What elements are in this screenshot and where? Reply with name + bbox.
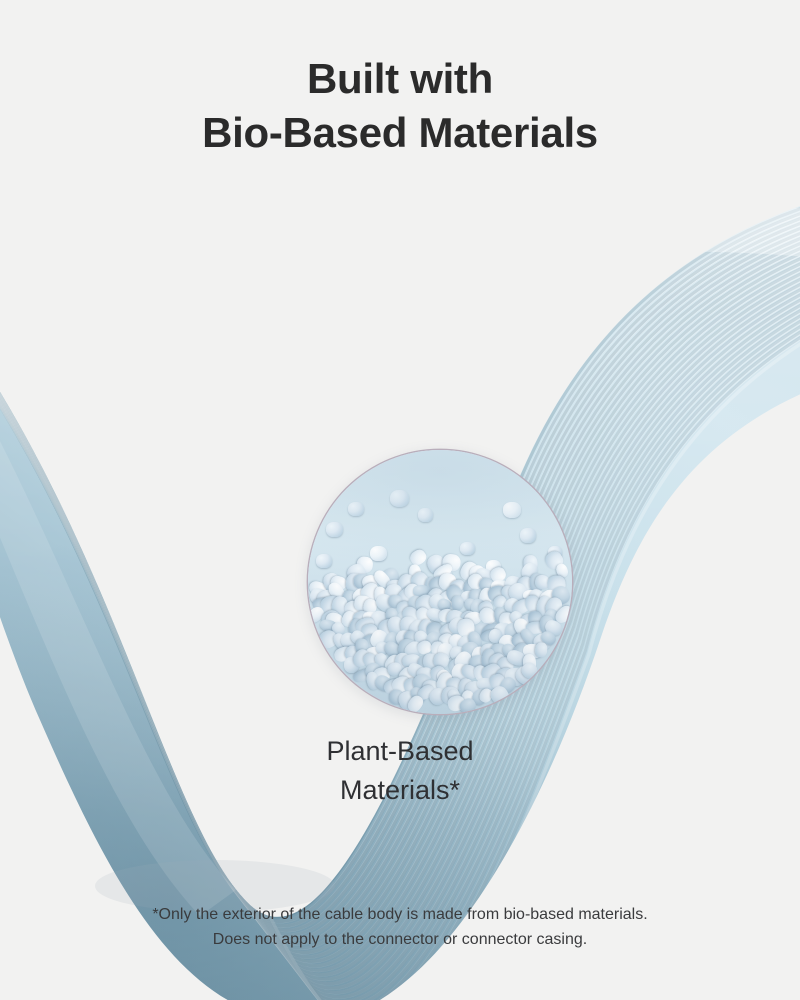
- footnote-disclaimer: *Only the exterior of the cable body is …: [0, 902, 800, 952]
- caption-line-1: Plant-Based: [0, 732, 800, 771]
- footnote-line-1: *Only the exterior of the cable body is …: [0, 902, 800, 927]
- marketing-banner: Built with Bio-Based Materials Plant-Bas…: [0, 0, 800, 1000]
- heading-line-1: Built with: [0, 52, 800, 106]
- resin-pellet: [370, 546, 387, 561]
- resin-pellet: [316, 554, 332, 568]
- resin-pellet: [520, 528, 536, 543]
- page-title: Built with Bio-Based Materials: [0, 52, 800, 160]
- pellet-caption: Plant-Based Materials*: [0, 732, 800, 810]
- resin-pellet: [451, 595, 463, 610]
- caption-line-2: Materials*: [0, 771, 800, 810]
- pellet-bed: [308, 450, 572, 714]
- resin-pellet: [418, 508, 433, 522]
- heading-line-2: Bio-Based Materials: [0, 106, 800, 160]
- footnote-line-2: Does not apply to the connector or conne…: [0, 927, 800, 952]
- plant-based-pellet-closeup: [308, 450, 572, 714]
- resin-pellet: [348, 502, 364, 516]
- resin-pellet: [390, 490, 409, 507]
- resin-pellet: [503, 502, 521, 518]
- resin-pellet: [535, 642, 548, 658]
- resin-pellet: [460, 542, 475, 555]
- resin-pellet: [326, 522, 343, 537]
